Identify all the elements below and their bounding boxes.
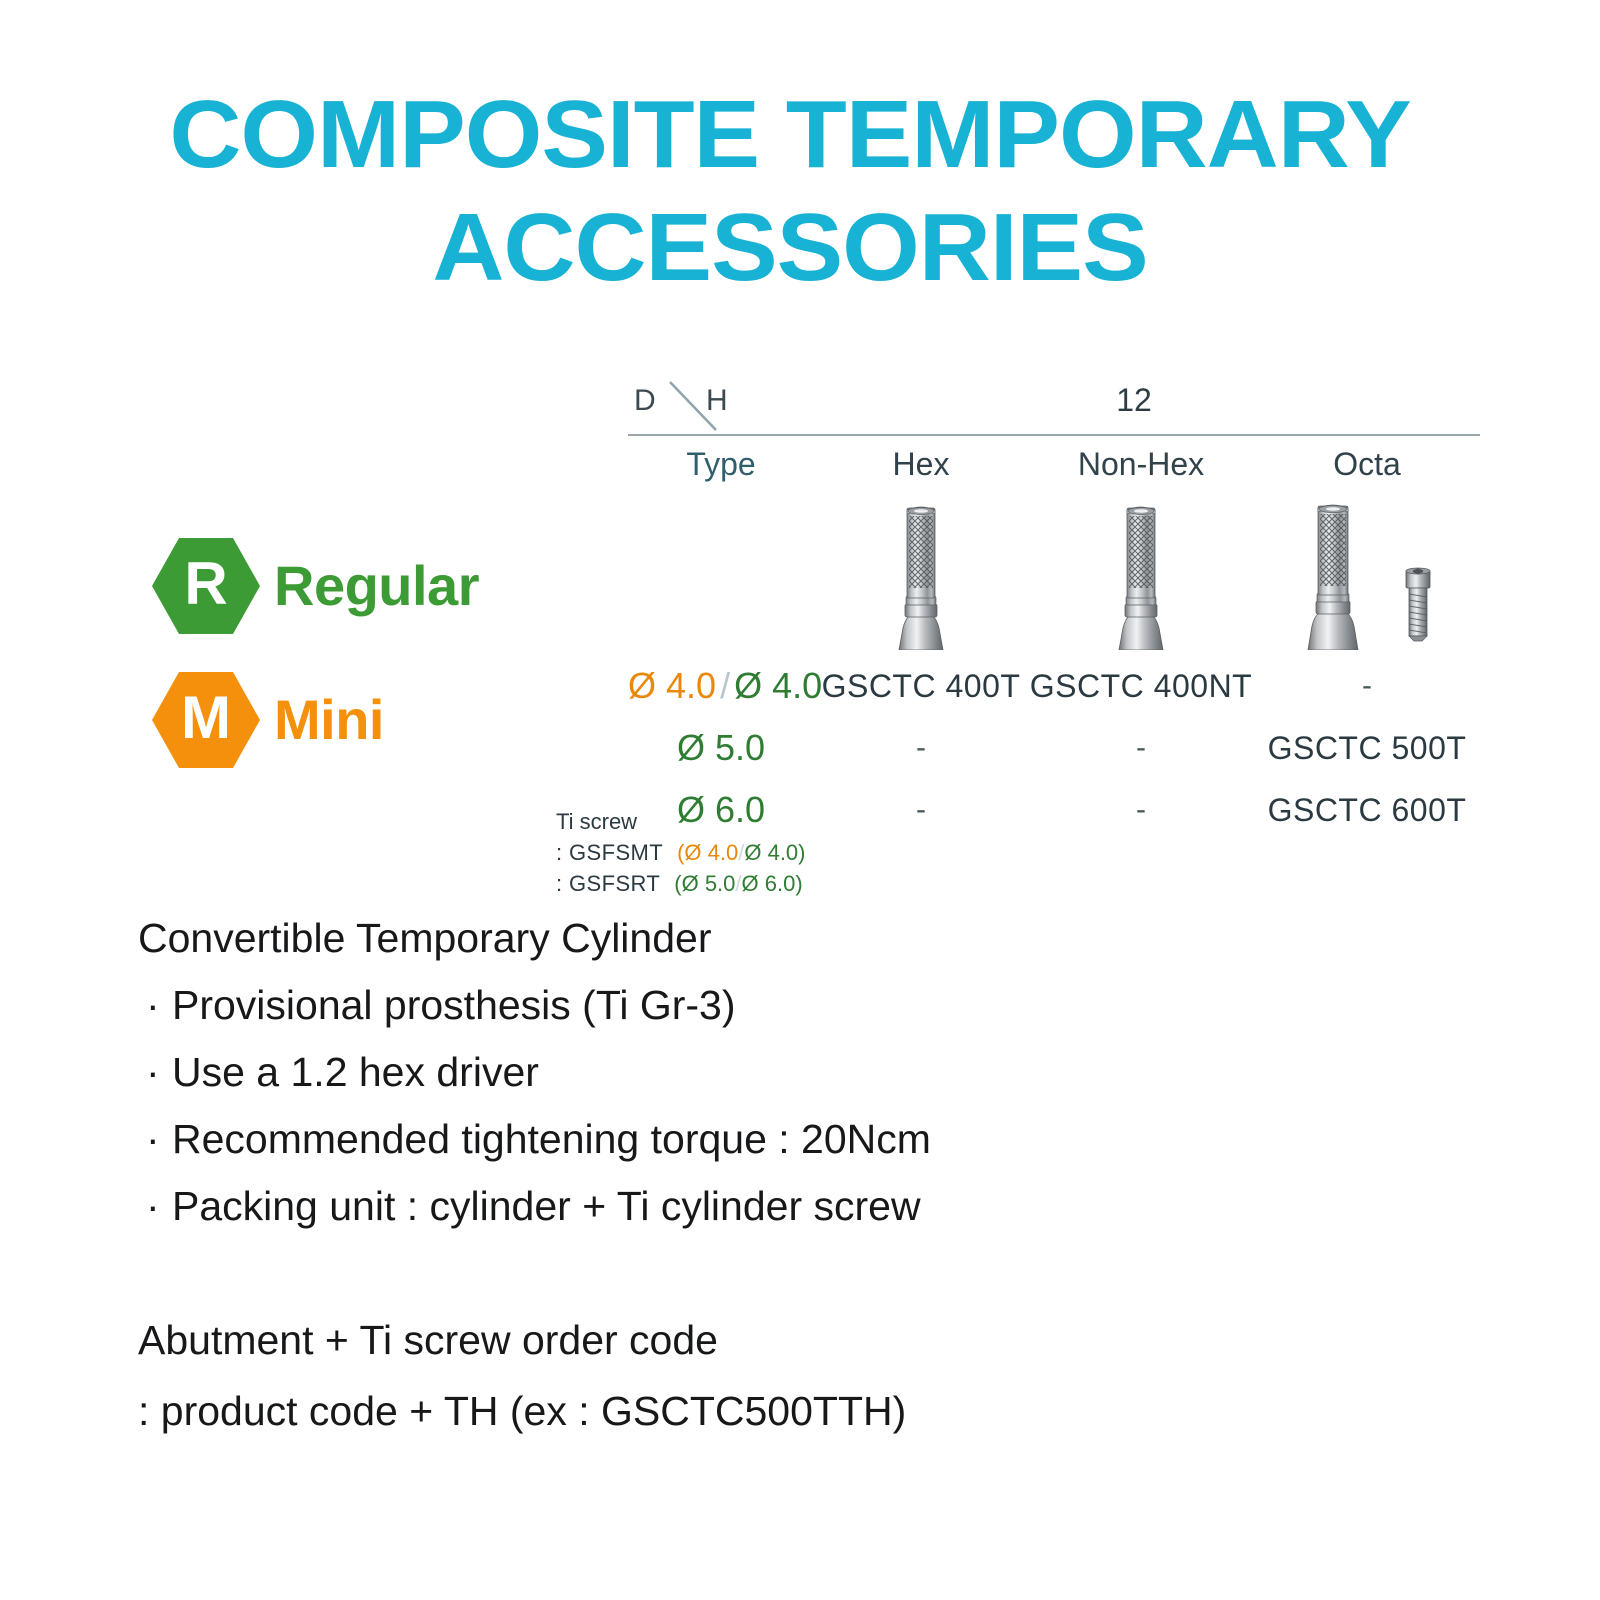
page-title-line-2: ACCESSORIES: [62, 191, 1518, 304]
ti-screw-code-regular: : GSFSRT: [556, 871, 660, 896]
table-span-label: 12: [628, 382, 1480, 419]
column-header-type: Type: [686, 446, 755, 482]
column-header-octa: Octa: [1333, 446, 1401, 482]
description-heading: Convertible Temporary Cylinder: [138, 918, 1138, 959]
ti-screw-dia-mini-first: (Ø 4.0: [677, 840, 738, 865]
list-item-label: Recommended tightening torque : 20Ncm: [172, 1116, 931, 1162]
hexagon-badge-icon-mini: M: [152, 672, 260, 768]
product-image-non-hex-cell: [1028, 500, 1254, 655]
ti-screw-code-mini: : GSFSMT: [556, 840, 663, 865]
description-bullet-list: · Provisional prosthesis (Ti Gr-3) · Use…: [138, 985, 1138, 1227]
row-octa-cell: GSCTC 500T: [1254, 730, 1480, 767]
bullet-dot-icon: ·: [146, 1119, 160, 1160]
table-row: Ø 5.0 - - GSCTC 500T: [628, 717, 1480, 779]
order-code-note-line-2: : product code + TH (ex : GSCTC500TTH): [138, 1391, 1238, 1432]
bullet-dot-icon: ·: [146, 1052, 160, 1093]
ti-screw-dia-reg-second: Ø 6.0): [742, 871, 803, 896]
column-header-hex: Hex: [893, 446, 950, 482]
row-non-hex-cell: -: [1028, 731, 1254, 765]
row-non-hex-code: GSCTC 400NT: [1030, 668, 1252, 704]
row-diameter-separator: /: [716, 665, 734, 706]
description-block: Convertible Temporary Cylinder · Provisi…: [138, 918, 1138, 1253]
row-diameter-regular: Ø 4.0: [734, 665, 822, 706]
row-diameter-cell: Ø 5.0: [628, 730, 814, 766]
column-header-non-hex-cell: Non-Hex: [1028, 446, 1254, 483]
bullet-dot-icon: ·: [146, 985, 160, 1026]
badge-mini: M Mini: [152, 672, 384, 768]
non-hex-cylinder-image: [1105, 500, 1177, 655]
column-header-hex-cell: Hex: [814, 446, 1028, 483]
spec-table: D H 12 Type Hex Non-Hex Octa: [628, 382, 1480, 841]
row-non-hex-code: -: [1136, 731, 1146, 764]
list-item: · Use a 1.2 hex driver: [138, 1052, 1138, 1093]
order-code-note: Abutment + Ti screw order code : product…: [138, 1320, 1238, 1432]
list-item: · Provisional prosthesis (Ti Gr-3): [138, 985, 1138, 1026]
column-header-type-cell: Type: [628, 446, 814, 483]
ti-screw-note: Ti screw : GSFSMT(Ø 4.0/Ø 4.0) : GSFSRT(…: [556, 806, 806, 900]
row-octa-code: GSCTC 600T: [1268, 792, 1467, 828]
row-hex-code: GSCTC 400T: [822, 668, 1021, 704]
list-item-label: Provisional prosthesis (Ti Gr-3): [172, 982, 736, 1028]
row-non-hex-cell: GSCTC 400NT: [1028, 668, 1254, 705]
row-diameter-cell: Ø 4.0/Ø 4.0: [628, 668, 814, 704]
row-octa-code: -: [1362, 669, 1372, 702]
list-item: · Packing unit : cylinder + Ti cylinder …: [138, 1186, 1138, 1227]
page-title: COMPOSITE TEMPORARY ACCESSORIES: [62, 78, 1518, 305]
ti-screw-image: [1398, 564, 1438, 647]
order-code-note-line-1: Abutment + Ti screw order code: [138, 1320, 1238, 1361]
table-corner-header: D H 12: [628, 382, 1480, 434]
row-diameter-group: Ø 4.0/Ø 4.0: [628, 665, 822, 706]
table-column-header-row: Type Hex Non-Hex Octa: [628, 436, 1480, 483]
ti-screw-note-line-2: : GSFSRT(Ø 5.0/Ø 6.0): [556, 868, 806, 899]
ti-screw-dia-reg-first: (Ø 5.0: [674, 871, 735, 896]
octa-cylinder-image: [1296, 498, 1372, 655]
list-item: · Recommended tightening torque : 20Ncm: [138, 1119, 1138, 1160]
row-hex-cell: GSCTC 400T: [814, 668, 1028, 705]
ti-screw-dia-mini-second: Ø 4.0): [744, 840, 805, 865]
ti-screw-note-line-1: : GSFSMT(Ø 4.0/Ø 4.0): [556, 837, 806, 868]
row-hex-code: -: [916, 731, 926, 764]
row-hex-code: -: [916, 793, 926, 826]
page-title-line-1: COMPOSITE TEMPORARY: [62, 78, 1518, 191]
badge-letter-mini: M: [181, 688, 231, 748]
row-non-hex-code: -: [1136, 793, 1146, 826]
row-octa-cell: -: [1254, 669, 1480, 703]
ti-screw-note-title: Ti screw: [556, 806, 806, 837]
product-image-row: [628, 483, 1480, 655]
badge-regular: R Regular: [152, 538, 479, 634]
row-diameter-mini: Ø 4.0: [628, 665, 716, 706]
product-image-hex-cell: [814, 500, 1028, 655]
product-image-octa-cell: [1254, 498, 1480, 655]
list-item-label: Use a 1.2 hex driver: [172, 1049, 539, 1095]
badge-label-regular: Regular: [274, 558, 479, 614]
column-header-octa-cell: Octa: [1254, 446, 1480, 483]
row-diameter-regular: Ø 5.0: [677, 727, 765, 768]
list-item-label: Packing unit : cylinder + Ti cylinder sc…: [172, 1183, 921, 1229]
row-hex-cell: -: [814, 731, 1028, 765]
row-non-hex-cell: -: [1028, 793, 1254, 827]
table-row: Ø 4.0/Ø 4.0 GSCTC 400T GSCTC 400NT -: [628, 655, 1480, 717]
badge-label-mini: Mini: [274, 692, 384, 748]
row-hex-cell: -: [814, 793, 1028, 827]
badge-letter-regular: R: [184, 554, 227, 614]
bullet-dot-icon: ·: [146, 1186, 160, 1227]
column-header-non-hex: Non-Hex: [1078, 446, 1204, 482]
row-octa-code: GSCTC 500T: [1268, 730, 1467, 766]
hexagon-badge-icon-regular: R: [152, 538, 260, 634]
row-octa-cell: GSCTC 600T: [1254, 792, 1480, 829]
hex-cylinder-image: [885, 500, 957, 655]
